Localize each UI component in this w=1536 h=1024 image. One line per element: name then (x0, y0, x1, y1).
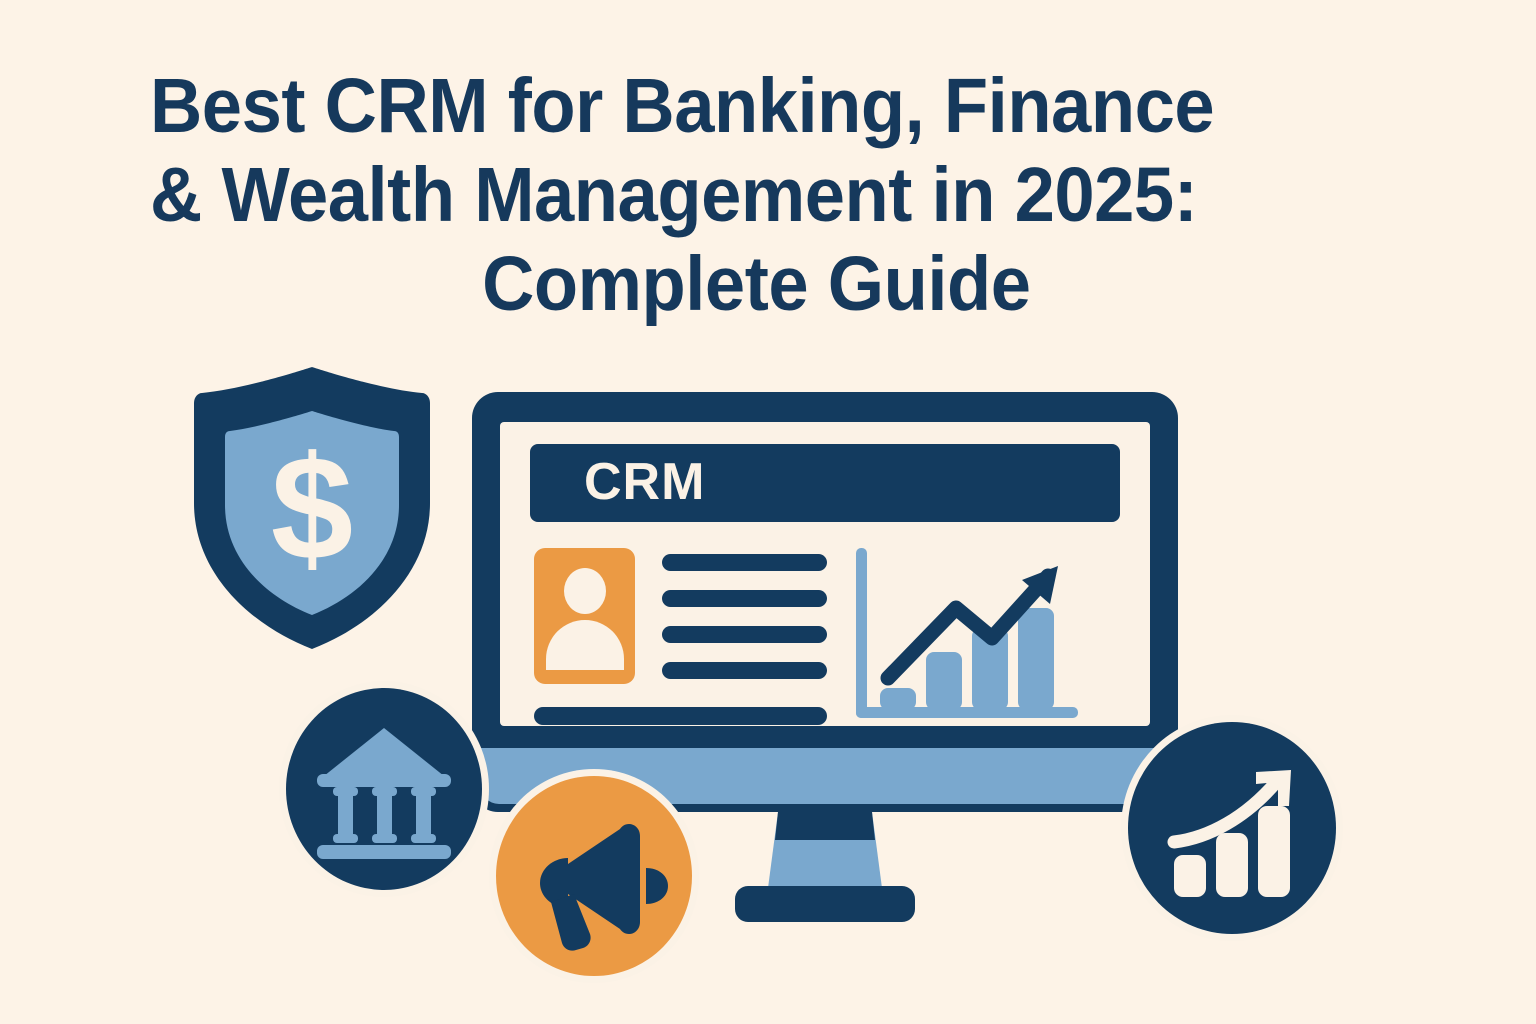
chart-bar (880, 688, 916, 710)
avatar-body-shape (546, 620, 624, 670)
chart-bar (1018, 608, 1054, 710)
title-line-2: & Wealth Management in 2025: (150, 151, 1363, 240)
monitor-display: CRM (472, 392, 1178, 812)
page-title: Best CRM for Banking, Finance & Wealth M… (150, 62, 1363, 329)
crm-header-bar: CRM (530, 444, 1120, 522)
contact-field-line (662, 626, 827, 643)
chart-bar (926, 652, 962, 710)
growth-bar (1174, 855, 1206, 897)
hero-banner: Best CRM for Banking, Finance & Wealth M… (0, 0, 1536, 1024)
stand-base (735, 886, 915, 922)
growth-bar (1258, 806, 1290, 897)
contact-field-line (662, 662, 827, 679)
growth-chart-icon[interactable] (1128, 722, 1336, 934)
dashboard-bar-chart (852, 542, 1087, 726)
chart-y-axis (856, 548, 867, 718)
megaphone-icon[interactable] (496, 776, 692, 976)
svg-text:$: $ (271, 426, 353, 591)
avatar-head-shape (564, 568, 606, 614)
title-line-1: Best CRM for Banking, Finance (150, 62, 1363, 151)
title-line-3: Complete Guide (150, 240, 1363, 329)
crm-app-label: CRM (584, 452, 705, 512)
bank-icon[interactable] (286, 688, 482, 890)
growth-bar (1216, 833, 1248, 897)
contact-field-line (662, 590, 827, 607)
monitor-screen: CRM (500, 422, 1150, 726)
bank-base (317, 845, 451, 859)
monitor-stand (700, 810, 950, 940)
bank-architrave (317, 774, 451, 787)
megaphone-sound-wave (646, 868, 668, 904)
shield-dollar-icon: $ (186, 363, 438, 653)
bank-pediment (319, 728, 449, 780)
contact-field-line (662, 554, 827, 571)
contact-avatar-card[interactable] (534, 548, 635, 684)
contact-footer-line (534, 707, 827, 725)
stand-neck-upper (775, 812, 875, 840)
